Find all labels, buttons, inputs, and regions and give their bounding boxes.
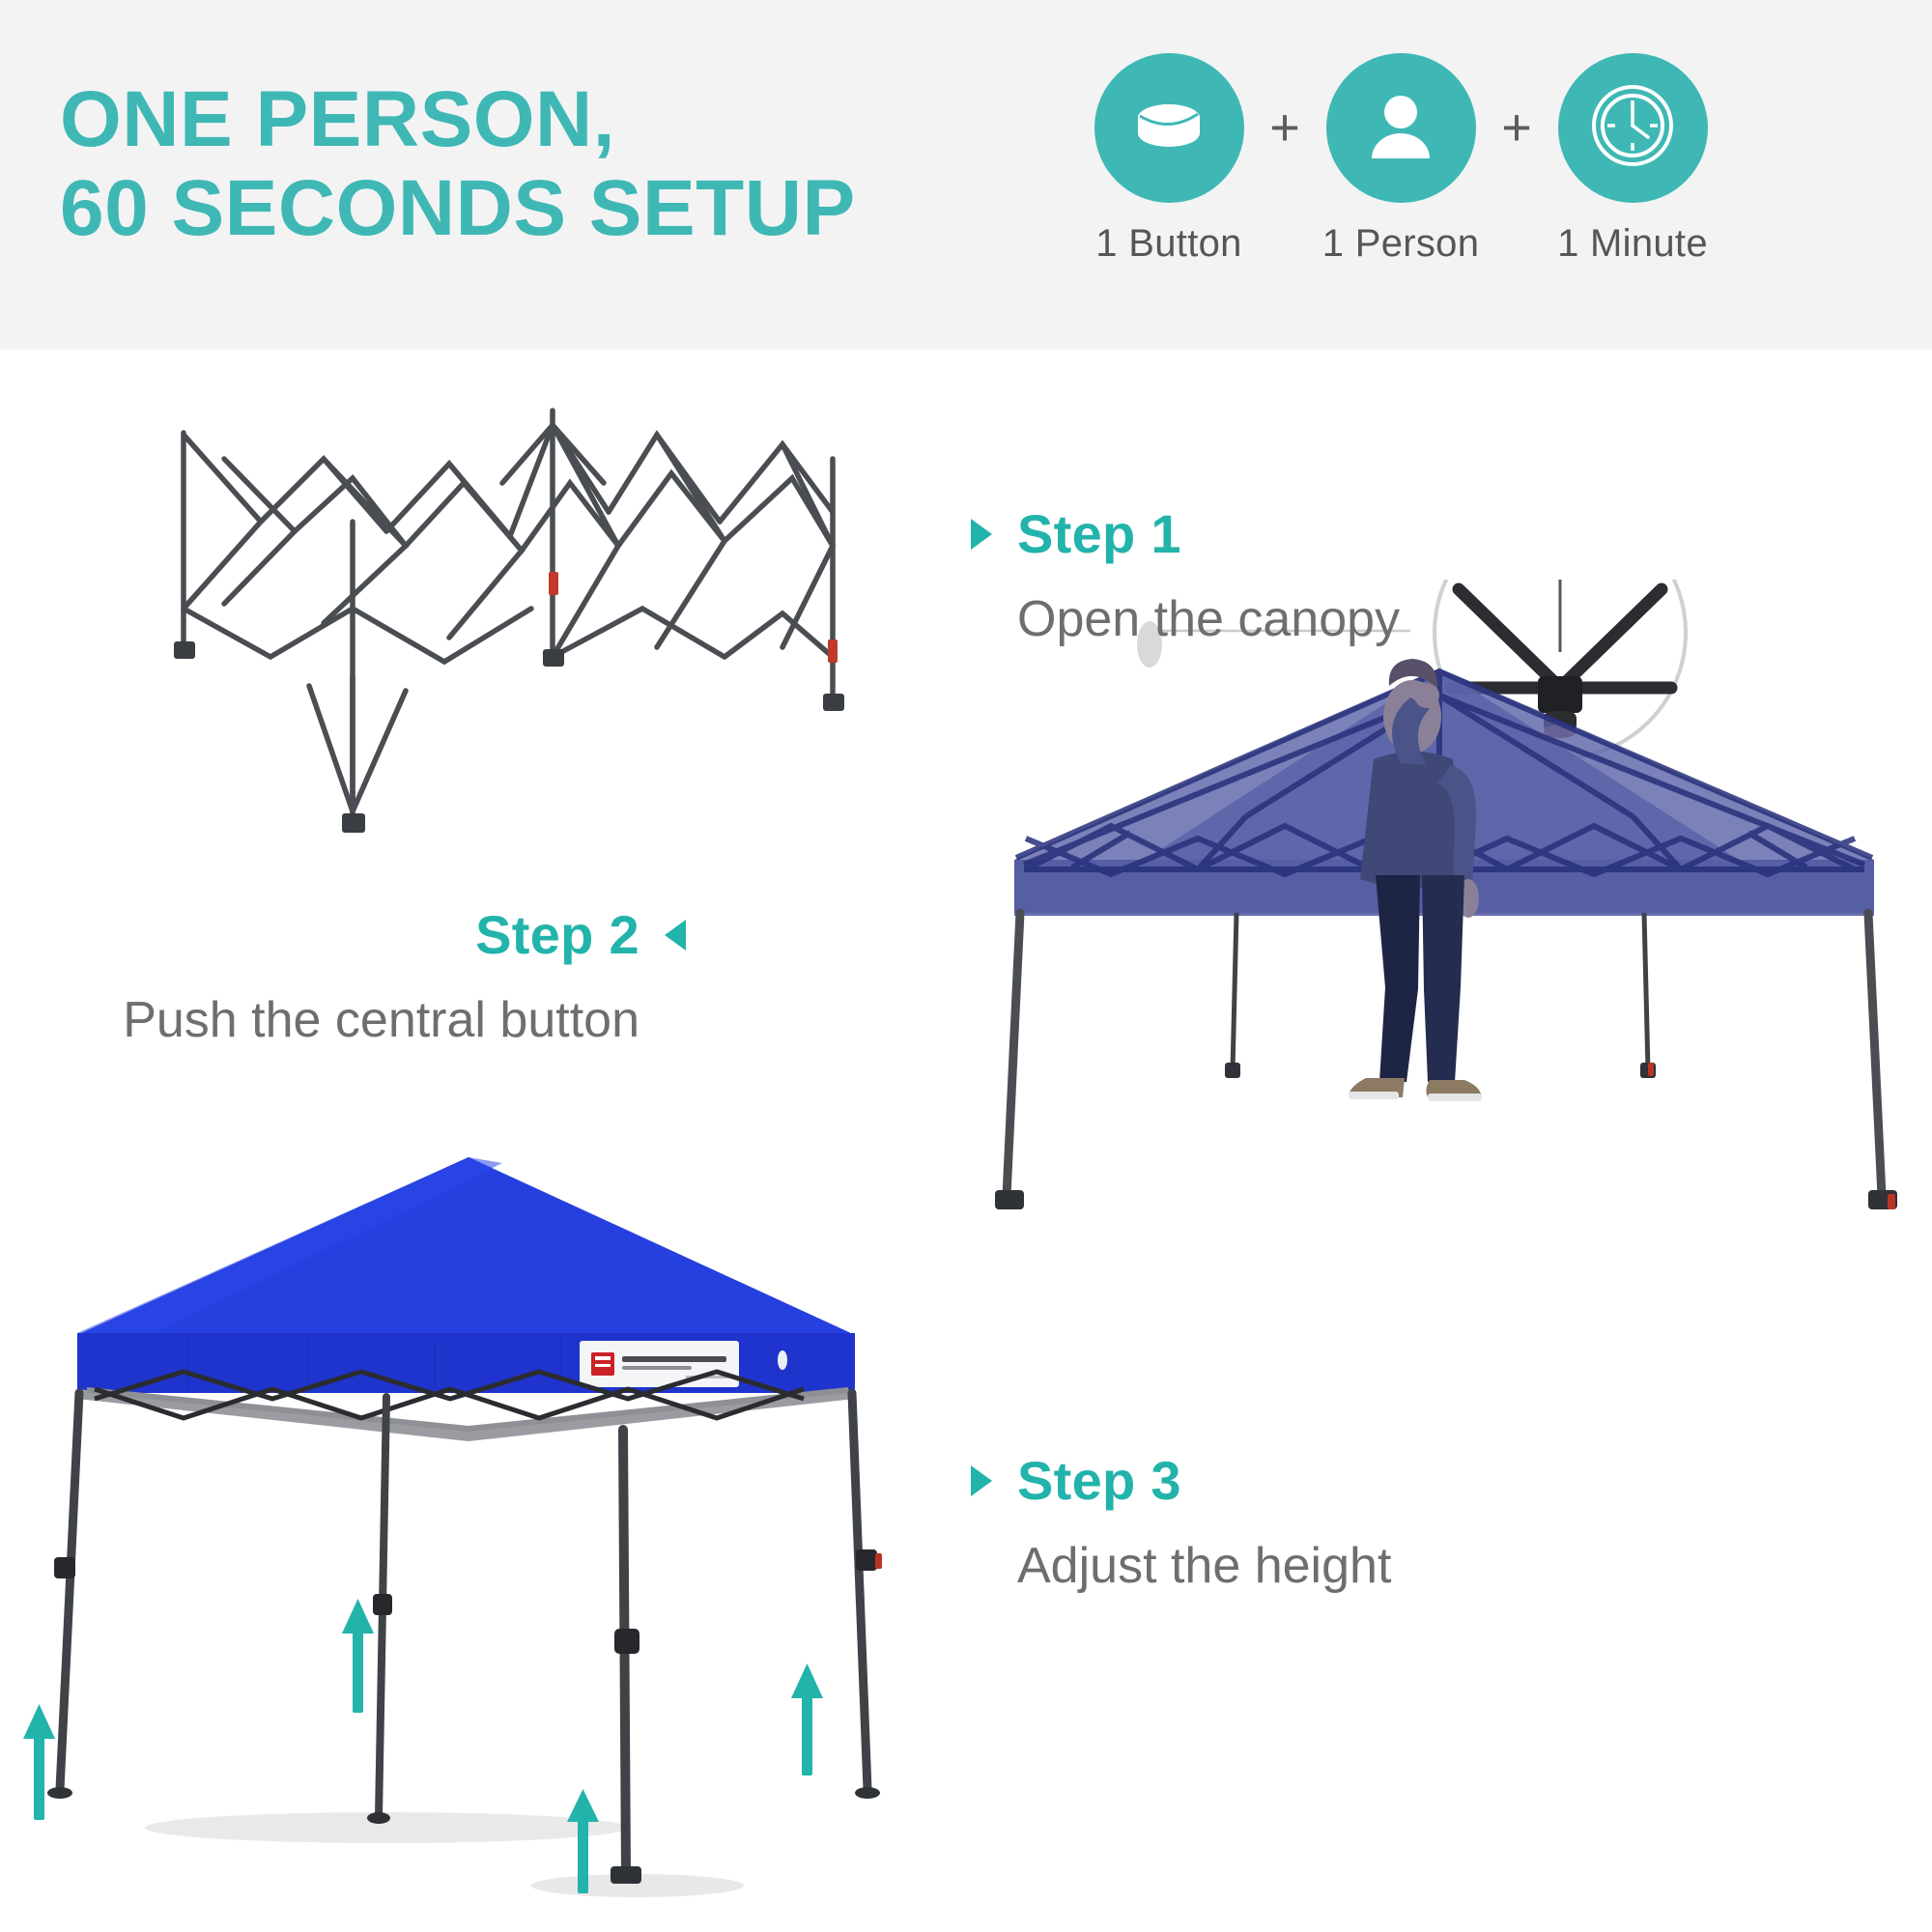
- button-puck-icon: [1124, 81, 1213, 175]
- step-2-heading: Step 2: [123, 903, 686, 966]
- step-1-title: Step 1: [1017, 502, 1181, 565]
- finished-canopy-illustration: [19, 1140, 947, 1903]
- triangle-right-icon: [971, 1465, 992, 1496]
- badge-1-button: 1 Button: [1092, 53, 1246, 266]
- up-arrow: [23, 1704, 55, 1820]
- height-adjust-arrows: [23, 1599, 823, 1893]
- badge-label: 1 Button: [1095, 222, 1241, 266]
- step-1-heading: Step 1: [971, 502, 1400, 565]
- headline-line-2: 60 SECONDS SETUP: [60, 164, 856, 253]
- header-band: ONE PERSON, 60 SECONDS SETUP 1 Button +: [0, 0, 1932, 350]
- badge-circle: [1326, 53, 1476, 203]
- person-icon: [1356, 81, 1445, 175]
- triangle-right-icon: [971, 519, 992, 550]
- clock-icon: [1584, 77, 1681, 179]
- badge-circle: [1094, 53, 1244, 203]
- badge-label: 1 Person: [1322, 222, 1480, 266]
- step-3-heading: Step 3: [971, 1449, 1391, 1512]
- step-1-description: Open the canopy: [1017, 590, 1400, 648]
- step-3-description: Adjust the height: [1017, 1537, 1391, 1595]
- plus-separator-1: +: [1246, 53, 1323, 203]
- open-canopy-with-person-illustration: [956, 580, 1932, 1256]
- brand-label-patch: [580, 1341, 739, 1387]
- step-3-block: Step 3 Adjust the height: [971, 1449, 1391, 1595]
- step-2-description: Push the central button: [123, 991, 639, 1049]
- badge-1-person: 1 Person: [1323, 53, 1478, 266]
- badge-label: 1 Minute: [1557, 222, 1708, 266]
- step-2-block: Step 2 Push the central button: [123, 903, 686, 1049]
- up-arrow: [342, 1599, 374, 1713]
- collapsed-canopy-frame-illustration: [116, 367, 850, 869]
- feature-badge-row: 1 Button + 1 Person +: [1092, 53, 1710, 266]
- plus-separator-2: +: [1478, 53, 1555, 203]
- height-adjust-collars: [54, 1549, 877, 1654]
- page-title: ONE PERSON, 60 SECONDS SETUP: [60, 75, 856, 253]
- badge-circle: [1558, 53, 1708, 203]
- step-2-title: Step 2: [475, 903, 639, 966]
- badge-1-minute: 1 Minute: [1555, 53, 1710, 266]
- step-1-block: Step 1 Open the canopy: [971, 502, 1400, 648]
- up-arrow: [791, 1663, 823, 1776]
- canopy-legs: [60, 1393, 867, 1874]
- triangle-left-icon: [665, 920, 686, 951]
- headline-line-1: ONE PERSON,: [60, 75, 615, 163]
- step-3-title: Step 3: [1017, 1449, 1181, 1512]
